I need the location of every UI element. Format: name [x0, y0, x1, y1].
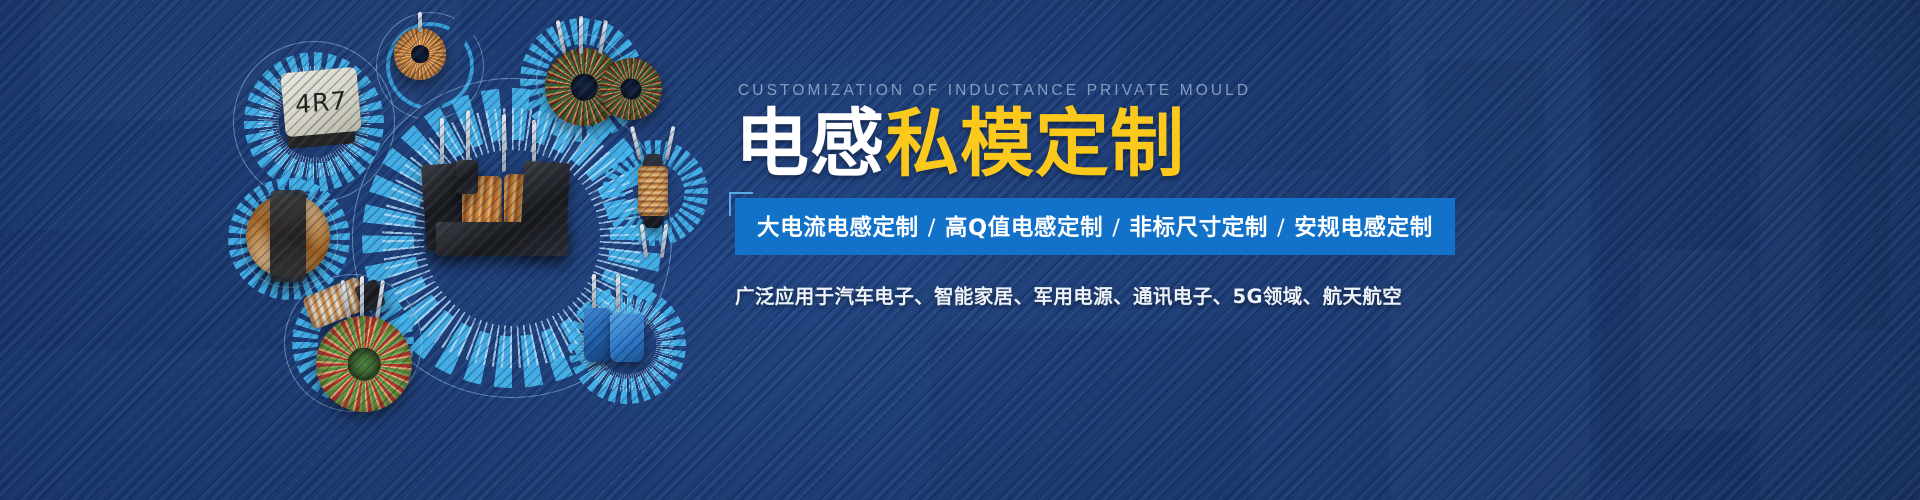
- feature-separator-2: /: [1268, 215, 1294, 241]
- feature-list-text: 大电流电感定制/高Q值电感定制/非标尺寸定制/安规电感定制: [757, 215, 1433, 241]
- headline-yellow-part: 私模定制: [885, 101, 1185, 187]
- banner-eyebrow-english: CUSTOMIZATION OF INDUCTANCE PRIVATE MOUL…: [738, 82, 1865, 100]
- feature-list-bar[interactable]: 大电流电感定制/高Q值电感定制/非标尺寸定制/安规电感定制: [735, 198, 1455, 255]
- banner-text-block: CUSTOMIZATION OF INDUCTANCE PRIVATE MOUL…: [735, 82, 1865, 309]
- feature-item-3: 安规电感定制: [1294, 215, 1433, 241]
- feature-item-0: 大电流电感定制: [757, 215, 919, 241]
- headline-white-part: 电感: [735, 101, 885, 187]
- banner-headline: 电感私模定制: [735, 107, 1865, 182]
- feature-item-1: 高Q值电感定制: [945, 215, 1103, 241]
- feature-separator-1: /: [1103, 215, 1129, 241]
- feature-separator-0: /: [919, 215, 945, 241]
- promo-banner: 4R7: [0, 0, 1920, 500]
- banner-description: 广泛应用于汽车电子、智能家居、军用电源、通讯电子、5G领域、航天航空: [735, 280, 1865, 309]
- feature-item-2: 非标尺寸定制: [1129, 215, 1268, 241]
